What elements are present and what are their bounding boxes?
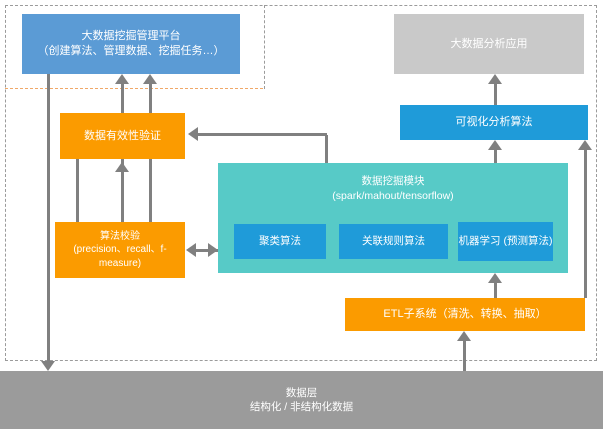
edge-mining-to-visual-arrow: [488, 140, 502, 150]
node-machine-learning-line2: (预测算法): [503, 235, 552, 247]
node-analytics-application[interactable]: 大数据分析应用: [394, 14, 584, 74]
edge-etl-to-visual-line: [584, 150, 587, 298]
edge-data-layer-to-etl-arrow: [457, 331, 471, 341]
node-visualization-algorithm[interactable]: 可视化分析算法: [400, 105, 588, 140]
edge-etl-to-mining-line: [494, 283, 497, 298]
node-analytics-application-line1: 大数据分析应用: [451, 37, 528, 52]
edge-mgmt-to-data-layer-arrow: [41, 361, 55, 371]
node-data-mining-module-line2: (spark/mahout/tensorflow): [332, 189, 453, 204]
node-association-rule-algorithm[interactable]: 关联规则算法: [339, 224, 448, 259]
edge-etl-to-mining-arrow: [488, 273, 502, 283]
edge-mining-to-visual-line: [494, 150, 497, 164]
node-algorithm-verification-line1: 算法校验: [100, 230, 140, 244]
edge-verify-to-mgmt-arrow: [143, 74, 157, 84]
node-clustering-algorithm-label: 聚类算法: [259, 235, 301, 249]
node-association-rule-algorithm-label: 关联规则算法: [362, 235, 425, 249]
node-data-validation-line1: 数据有效性验证: [84, 129, 161, 144]
node-management-platform[interactable]: 大数据挖掘管理平台 （创建算法、管理数据、挖掘任务…）: [22, 14, 240, 74]
edge-etl-to-visual-arrow: [578, 140, 592, 150]
node-clustering-algorithm[interactable]: 聚类算法: [234, 224, 326, 259]
node-management-platform-line2: （创建算法、管理数据、挖掘任务…）: [38, 44, 225, 59]
node-machine-learning-line1: 机器学习: [459, 235, 501, 247]
node-etl-subsystem-line1: ETL子系统（清洗、转换、抽取）: [383, 307, 546, 322]
edge-verify-to-validation-arrow: [115, 162, 129, 172]
management-zone-divider-vertical: [264, 5, 265, 89]
node-algorithm-verification-line2: (precision、recall、f-: [73, 243, 166, 257]
node-data-layer-line2: 结构化 / 非结构化数据: [250, 400, 353, 414]
architecture-diagram: 大数据挖掘管理平台 （创建算法、管理数据、挖掘任务…） 大数据分析应用 可视化分…: [0, 0, 603, 429]
edge-mining-to-validation-horizontal: [198, 133, 327, 136]
edge-validation-to-mgmt-arrow: [115, 74, 129, 84]
edge-verify-mining-arrow-left: [186, 243, 196, 257]
node-visualization-algorithm-line1: 可视化分析算法: [456, 115, 533, 130]
node-data-mining-module-line1: 数据挖掘模块: [362, 174, 425, 189]
node-management-platform-line1: 大数据挖掘管理平台: [82, 29, 181, 44]
node-algorithm-verification-line3: measure): [99, 257, 141, 271]
edge-verify-mining-arrow-right: [208, 243, 218, 257]
node-etl-subsystem[interactable]: ETL子系统（清洗、转换、抽取）: [345, 298, 585, 331]
edge-mining-to-validation-arrow: [188, 127, 198, 141]
node-machine-learning[interactable]: 机器学习 (预测算法): [458, 222, 553, 261]
edge-data-layer-to-etl-line: [463, 341, 466, 371]
node-data-layer[interactable]: 数据层 结构化 / 非结构化数据: [0, 371, 603, 429]
management-zone-divider-horizontal: [5, 88, 263, 89]
edge-mgmt-to-data-layer-line: [47, 74, 50, 366]
edge-visual-to-app-arrow: [488, 74, 502, 84]
edge-visual-to-app-line: [494, 84, 497, 105]
edge-validation-to-mgmt-line: [121, 84, 124, 114]
node-data-layer-line1: 数据层: [286, 386, 318, 400]
node-data-validation[interactable]: 数据有效性验证: [60, 113, 185, 159]
node-algorithm-verification[interactable]: 算法校验 (precision、recall、f- measure): [55, 222, 185, 278]
